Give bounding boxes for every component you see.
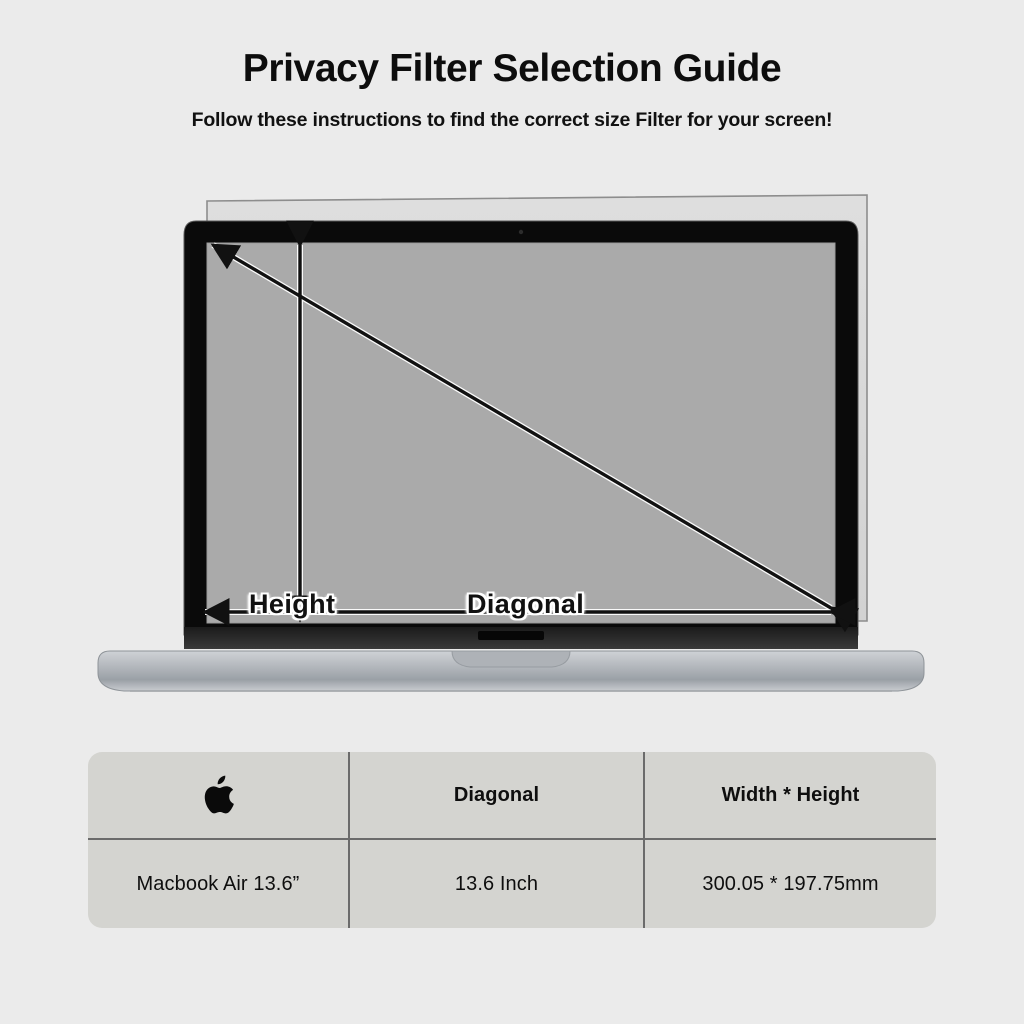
apple-logo-icon [201,775,235,816]
table-header-row: Diagonal Width * Height [88,752,936,838]
page-title: Privacy Filter Selection Guide [0,0,1024,91]
diagonal-cell: 13.6 Inch [348,840,643,928]
device-size-table: Diagonal Width * Height Macbook Air 13.6… [88,752,936,928]
dimensions-cell: 300.05 * 197.75mm [643,840,936,928]
diagonal-column-header: Diagonal [348,752,643,838]
laptop-measurement-illustration: Height Diagonal width [0,165,1024,705]
model-cell: Macbook Air 13.6” [88,840,348,928]
laptop-base [98,627,924,691]
diagonal-label: Diagonal [467,589,584,620]
table-row: Macbook Air 13.6” 13.6 Inch 300.05 * 197… [88,838,936,928]
brand-column-header [88,752,348,838]
hinge-notch [478,631,544,640]
page-header: Privacy Filter Selection Guide Follow th… [0,0,1024,132]
dimensions-column-header: Width * Height [643,752,936,838]
webcam-dot [519,230,523,234]
laptop-diagram-svg [0,165,1024,705]
page-subtitle: Follow these instructions to find the co… [0,91,1024,132]
height-label: Height [249,589,335,620]
